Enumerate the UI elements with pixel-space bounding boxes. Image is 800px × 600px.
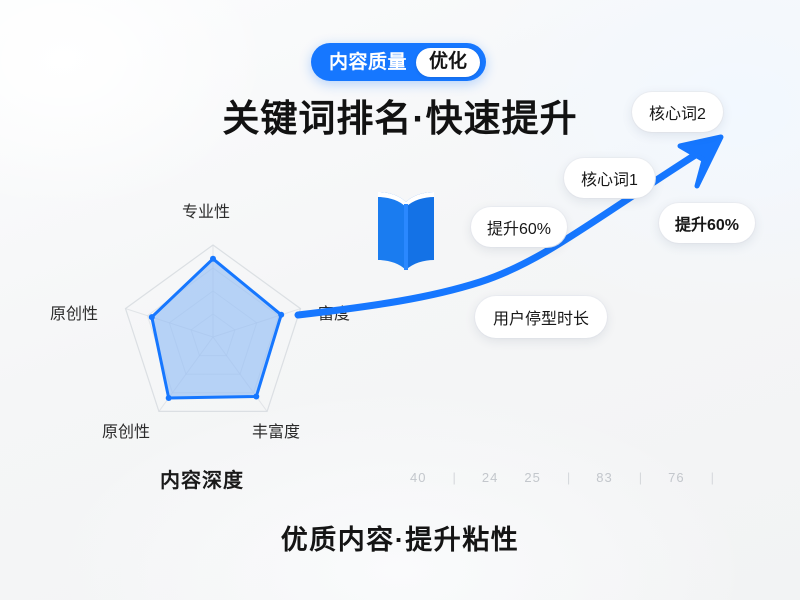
open-book-icon — [372, 186, 440, 278]
radar-label-bottom-left: 原创性 — [102, 418, 150, 442]
tick-mark: | — [711, 470, 714, 485]
radar-label-top: 专业性 — [182, 198, 230, 222]
footer-headline: 优质内容·提升粘性 — [0, 518, 800, 557]
badge-main-label: 内容质量 — [329, 53, 416, 72]
poster-canvas: 内容质量 优化 关键词排名·快速提升 专业性 富度 丰富度 原创性 原创性 核心… — [0, 0, 800, 600]
callout-keyword-2[interactable]: 核心词2 — [632, 92, 723, 132]
tick-number: 83 — [596, 470, 612, 485]
tick-number: 25 — [524, 470, 540, 485]
tick-scale: 40|2425|83|76| — [410, 466, 740, 488]
radar-data-area — [152, 259, 281, 398]
radar-label-bottom-right: 丰富度 — [252, 418, 300, 442]
tick-mark: | — [452, 470, 455, 485]
callout-uplift-right[interactable]: 提升60% — [659, 203, 755, 243]
radar-label-left: 原创性 — [50, 300, 98, 324]
tick-number: 76 — [668, 470, 684, 485]
callout-dwell-time[interactable]: 用户停型时长 — [475, 296, 607, 338]
tick-number: 24 — [482, 470, 498, 485]
tick-mark: | — [567, 470, 570, 485]
callout-uplift-left[interactable]: 提升60% — [471, 207, 567, 247]
badge-chip-label: 优化 — [416, 48, 480, 77]
tick-number: 40 — [410, 470, 426, 485]
content-depth-label: 内容深度 — [160, 464, 244, 493]
tick-mark: | — [639, 470, 642, 485]
status-badge[interactable]: 内容质量 优化 — [311, 43, 486, 81]
callout-keyword-1[interactable]: 核心词1 — [564, 158, 655, 198]
